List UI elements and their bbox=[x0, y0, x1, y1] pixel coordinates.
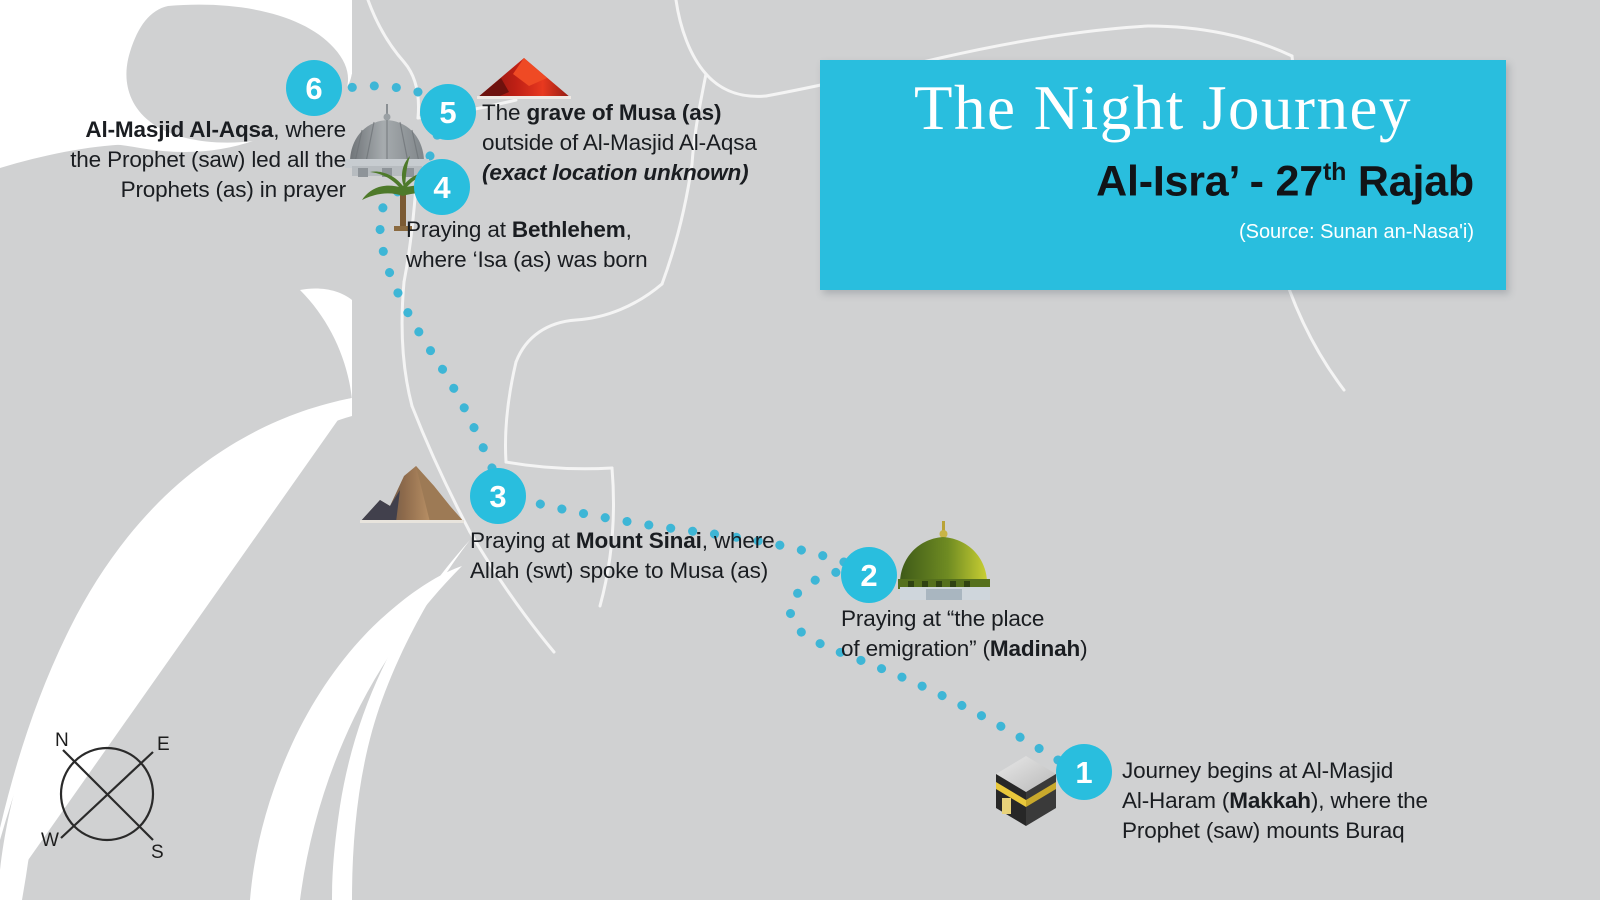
route-marker-2[interactable]: 2 bbox=[841, 547, 897, 603]
banner-title: The Night Journey bbox=[852, 70, 1474, 146]
label-run: Praying at bbox=[406, 217, 512, 242]
route-marker-6[interactable]: 6 bbox=[286, 60, 342, 116]
label-line: where ‘Isa (as) was born bbox=[406, 245, 686, 275]
label-run: Journey begins at Al-Masjid bbox=[1122, 758, 1393, 783]
stop-label-2: Praying at “the placeof emigration” (Mad… bbox=[841, 604, 1151, 664]
label-run: of emigration” ( bbox=[841, 636, 990, 661]
label-line: Praying at “the place bbox=[841, 604, 1151, 634]
label-run: where ‘Isa (as) was born bbox=[406, 247, 648, 272]
banner-subtitle-ordinal: th bbox=[1323, 158, 1346, 186]
banner-source: (Source: Sunan an-Nasa'i) bbox=[852, 221, 1474, 244]
label-run: , bbox=[626, 217, 632, 242]
label-run: Al-Haram ( bbox=[1122, 788, 1229, 813]
label-line: outside of Al-Masjid Al-Aqsa bbox=[482, 128, 802, 158]
label-run: , where bbox=[702, 528, 775, 553]
label-run: Prophets (as) in prayer bbox=[121, 177, 346, 202]
label-line: Allah (swt) spoke to Musa (as) bbox=[470, 556, 810, 586]
route-marker-5[interactable]: 5 bbox=[420, 84, 476, 140]
compass-rose: N E W S bbox=[35, 722, 185, 867]
label-run: Praying at bbox=[470, 528, 576, 553]
label-run: ), where the bbox=[1311, 788, 1428, 813]
compass-south-label: S bbox=[151, 842, 164, 863]
label-run: ) bbox=[1080, 636, 1087, 661]
label-line: Al-Masjid Al-Aqsa, where bbox=[50, 115, 346, 145]
label-line: the Prophet (saw) led all the bbox=[50, 145, 346, 175]
label-run: outside of Al-Masjid Al-Aqsa bbox=[482, 130, 757, 155]
banner-subtitle: Al-Isra’ - 27th Rajab bbox=[852, 146, 1474, 207]
title-banner: The Night Journey Al-Isra’ - 27th Rajab … bbox=[820, 60, 1506, 290]
label-line: The grave of Musa (as) bbox=[482, 98, 802, 128]
stop-label-1: Journey begins at Al-MasjidAl-Haram (Mak… bbox=[1122, 756, 1522, 846]
label-run: Mount Sinai bbox=[576, 528, 702, 553]
label-run: Allah (swt) spoke to Musa (as) bbox=[470, 558, 768, 583]
label-run: Prophet (saw) mounts Buraq bbox=[1122, 818, 1404, 843]
stop-label-6: Al-Masjid Al-Aqsa, wherethe Prophet (saw… bbox=[50, 115, 346, 205]
label-line: Journey begins at Al-Masjid bbox=[1122, 756, 1522, 786]
label-run: (exact location unknown) bbox=[482, 160, 748, 185]
stop-label-5: The grave of Musa (as)outside of Al-Masj… bbox=[482, 98, 802, 188]
banner-subtitle-main: Al-Isra’ - 27 bbox=[1096, 157, 1323, 205]
label-run: grave of Musa (as) bbox=[526, 100, 721, 125]
label-run: Al-Masjid Al-Aqsa bbox=[85, 117, 273, 142]
label-line: of emigration” (Madinah) bbox=[841, 634, 1151, 664]
label-run: Madinah bbox=[990, 636, 1080, 661]
label-line: Praying at Mount Sinai, where bbox=[470, 526, 810, 556]
compass-west-label: W bbox=[41, 830, 59, 851]
label-run: Praying at “the place bbox=[841, 606, 1044, 631]
compass-north-label: N bbox=[55, 730, 69, 751]
label-line: (exact location unknown) bbox=[482, 158, 802, 188]
compass-east-label: E bbox=[157, 734, 170, 755]
label-line: Prophets (as) in prayer bbox=[50, 175, 346, 205]
stop-label-4: Praying at Bethlehem,where ‘Isa (as) was… bbox=[406, 215, 686, 275]
label-run: Makkah bbox=[1229, 788, 1311, 813]
route-marker-3[interactable]: 3 bbox=[470, 468, 526, 524]
label-line: Al-Haram (Makkah), where the bbox=[1122, 786, 1522, 816]
label-line: Praying at Bethlehem, bbox=[406, 215, 686, 245]
banner-subtitle-tail: Rajab bbox=[1346, 157, 1474, 205]
label-line: Prophet (saw) mounts Buraq bbox=[1122, 816, 1522, 846]
route-marker-1[interactable]: 1 bbox=[1056, 744, 1112, 800]
label-run: the Prophet (saw) led all the bbox=[70, 147, 346, 172]
route-marker-4[interactable]: 4 bbox=[414, 159, 470, 215]
label-run: , where bbox=[273, 117, 346, 142]
label-run: Bethlehem bbox=[512, 217, 626, 242]
infographic-canvas: N E W S The Night Journey Al-Isra’ - 27t… bbox=[0, 0, 1600, 900]
stop-label-3: Praying at Mount Sinai, whereAllah (swt)… bbox=[470, 526, 810, 586]
label-run: The bbox=[482, 100, 526, 125]
